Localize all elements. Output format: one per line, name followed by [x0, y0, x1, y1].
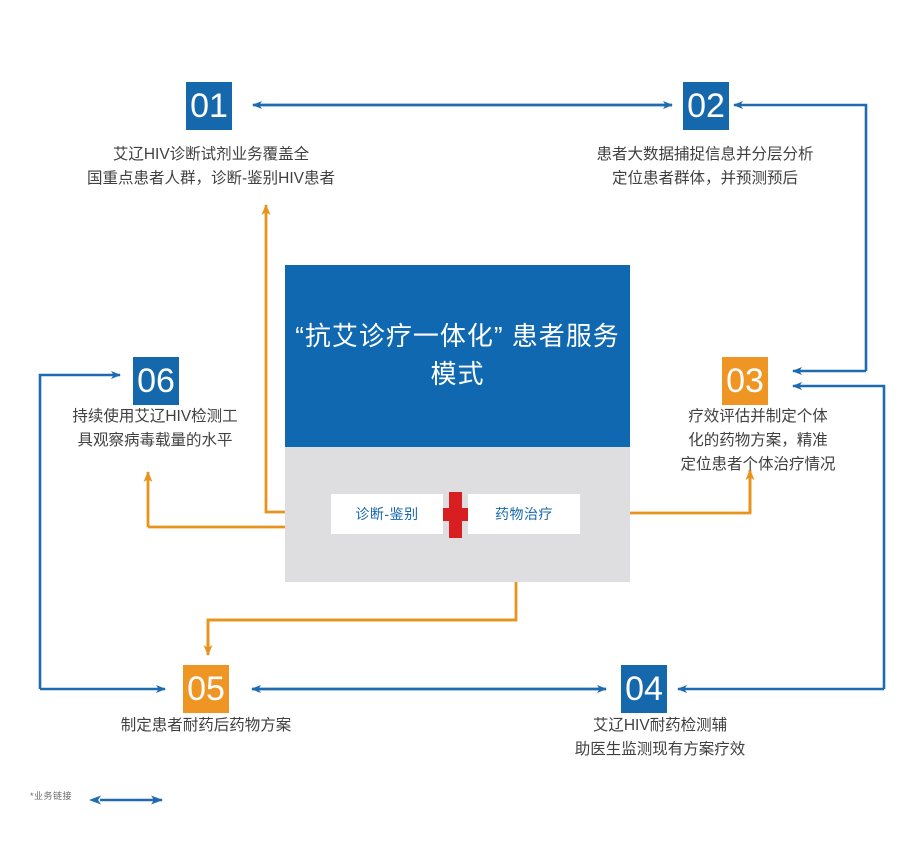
pill-diagnose[interactable]: 诊断-鉴别 [331, 494, 443, 534]
step-badge-05[interactable]: 05 [183, 665, 229, 713]
step-badge-02[interactable]: 02 [683, 82, 729, 130]
step-badge-06[interactable]: 06 [133, 357, 179, 405]
red-cross-vertical [449, 492, 462, 538]
center-title: “抗艾诊疗一体化” 患者服务模式 [285, 265, 630, 447]
legend-label: *业务链接 [30, 789, 72, 802]
step-badge-01[interactable]: 01 [186, 82, 232, 130]
infographic-canvas: 01 艾辽HIV诊断试剂业务覆盖全 国重点患者人群，诊断-鉴别HIV患者 02 … [0, 0, 920, 845]
step-caption-06: 持续使用艾辽HIV检测工 具观察病毒载量的水平 [35, 405, 275, 453]
wire-to-05-down [208, 620, 516, 655]
step-caption-04: 艾辽HIV耐药检测辅 助医生监测现有方案疗效 [540, 714, 780, 762]
step-caption-01: 艾辽HIV诊断试剂业务覆盖全 国重点患者人群，诊断-鉴别HIV患者 [46, 143, 376, 191]
step-caption-05: 制定患者耐药后药物方案 [66, 714, 346, 738]
step-caption-02: 患者大数据捕捉信息并分层分析 定位患者群体，并预测预后 [540, 143, 870, 191]
red-cross-icon [443, 492, 468, 538]
step-caption-03: 疗效评估并制定个体 化的药物方案，精准 定位患者个体治疗情况 [648, 405, 868, 477]
legend: *业务链接 [30, 789, 72, 802]
step-badge-03[interactable]: 03 [722, 357, 768, 405]
pill-medicate[interactable]: 药物治疗 [468, 494, 580, 534]
step-badge-04[interactable]: 04 [621, 665, 667, 713]
